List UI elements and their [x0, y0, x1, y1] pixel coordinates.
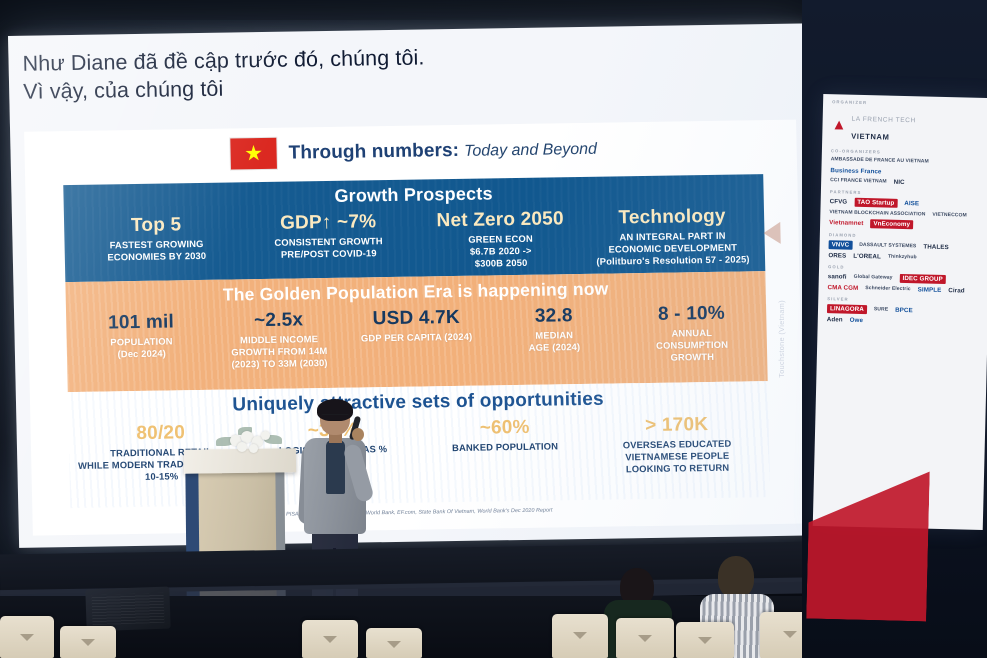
sponsor-logo: DASSAULT SYSTEMES — [859, 242, 916, 249]
sponsor-logo: AISE — [904, 200, 919, 207]
logo-row: VNVC DASSAULT SYSTEMES THALES — [829, 240, 981, 253]
french-tech-logo: ▲ LA FRENCH TECH VIETNAM — [831, 107, 984, 147]
stat-caption: GREEN ECON $6.7B 2020 -> $300B 2050 — [414, 232, 587, 271]
stat-item: ~2.5x MIDDLE INCOME GROWTH FROM 14M (202… — [210, 309, 349, 371]
logo-row: CFVG TAO Startup AISE — [830, 197, 982, 210]
stat-item: 101 mil POPULATION (Dec 2024) — [72, 311, 211, 361]
stat-value: ~2.5x — [210, 309, 348, 333]
audience-chair — [302, 620, 358, 658]
sponsor-logo: Thinkzyhub — [888, 254, 917, 261]
logo-row: LINAGORA SURE BPCE — [827, 304, 979, 317]
stat-caption: POPULATION (Dec 2024) — [73, 335, 211, 361]
tier-label: Silver — [827, 296, 979, 305]
caption-line-1: Như Diane đã đề cập trước đó, chúng tôi. — [22, 45, 424, 75]
stat-line: ECONOMIES BY 2030 — [71, 249, 243, 264]
sponsor-logo: Aden — [827, 316, 843, 323]
stat-item: > 170K OVERSEAS EDUCATED VIETNAMESE PEOP… — [590, 413, 763, 476]
stat-line: GROWTH — [623, 350, 761, 364]
sponsor-logo: Owe — [850, 317, 864, 324]
stat-line: (2023) TO 33M (2030) — [211, 357, 349, 371]
flag-star-icon: ★ — [244, 143, 263, 164]
sponsor-logo: Schneider Electric — [865, 285, 911, 292]
stat-value: 101 mil — [72, 311, 210, 335]
tier-label: Organizer — [832, 99, 984, 108]
sponsor-logo: BPCE — [895, 307, 913, 314]
tier-label: Partners — [830, 189, 982, 198]
stat-value: > 170K — [590, 413, 762, 438]
sponsor-banner: Organizer ▲ LA FRENCH TECH VIETNAM Co-or… — [813, 94, 987, 530]
sponsor-logo: ORES — [828, 252, 846, 259]
glasses-icon — [321, 414, 349, 422]
play-left-arrow-icon[interactable] — [763, 222, 780, 244]
tier-silver: Silver LINAGORA SURE BPCE Aden Owe — [818, 296, 987, 327]
stat-line: GDP PER CAPITA (2024) — [348, 331, 486, 345]
stat-item: USD 4.7K GDP PER CAPITA (2024) — [347, 307, 485, 345]
sponsor-logo: CCI FRANCE VIETNAM — [830, 177, 887, 184]
sponsor-logo: THALES — [923, 243, 949, 251]
speaker-grille — [91, 593, 164, 625]
logo-row: AMBASSADE DE FRANCE AU VIETNAM Business … — [830, 156, 982, 178]
flower-arrangement — [216, 425, 284, 459]
stat-value: GDP↑ ~7% — [242, 211, 414, 236]
stat-line: AGE (2024) — [486, 340, 624, 354]
stat-value: 32.8 — [485, 304, 623, 328]
stat-value: USD 4.7K — [347, 307, 485, 331]
stat-item: GDP↑ ~7% CONSISTENT GROWTH PRE/POST COVI… — [242, 211, 415, 262]
sponsor-logo: TAO Startup — [854, 198, 897, 208]
speaker-hand — [352, 428, 364, 441]
stat-item: 32.8 MEDIAN AGE (2024) — [485, 304, 624, 354]
tier-label: Gold — [828, 264, 980, 273]
band-stat-row: Top 5 FASTEST GROWING ECONOMIES BY 2030 … — [64, 205, 765, 276]
sponsor-logo: CMA CGM — [827, 284, 858, 292]
sponsor-logo: NIC — [894, 179, 905, 186]
stat-line: (Dec 2024) — [73, 347, 211, 361]
conference-hall-scene: Như Diane đã đề cập trước đó, chúng tôi.… — [0, 0, 987, 658]
sponsor-logo: SIMPLE — [918, 286, 942, 294]
band-growth-prospects: Growth Prospects Top 5 FASTEST GROWING E… — [63, 174, 765, 282]
presentation-slide: ★ Through numbers:Today and Beyond Growt… — [24, 120, 805, 536]
venue-vertical-label: Touchstone (Vietnam) — [777, 300, 786, 378]
logo-row: CMA CGM Schneider Electric SIMPLE Cirad — [827, 284, 979, 295]
logo-row: sanofi Global Gateway IDEC GROUP — [828, 272, 980, 285]
stat-item: Top 5 FASTEST GROWING ECONOMIES BY 2030 — [70, 213, 243, 264]
tier-partners: Partners CFVG TAO Startup AISE VIETNAM B… — [820, 189, 987, 231]
logo-row: ORES L'OREAL Thinkzyhub — [828, 252, 980, 263]
stat-item: Net Zero 2050 GREEN ECON $6.7B 2020 -> $… — [414, 208, 587, 271]
logo-row: CCI FRANCE VIETNAM NIC — [830, 177, 982, 188]
page-subtitle: Today and Beyond — [464, 140, 597, 159]
tier-diamond: Diamond VNVC DASSAULT SYSTEMES THALES OR… — [819, 232, 987, 263]
stat-caption: MEDIAN AGE (2024) — [485, 328, 623, 354]
sponsor-logo: Global Gateway — [854, 274, 893, 281]
stat-value: Top 5 — [70, 213, 242, 238]
sponsor-logo: AMBASSADE DE FRANCE AU VIETNAM — [831, 156, 929, 164]
tier-organizer: Organizer ▲ LA FRENCH TECH VIETNAM — [822, 99, 987, 147]
tier-label: Co-organizers — [831, 148, 983, 157]
logo-text: LA FRENCH TECH — [851, 116, 915, 125]
page-title: Through numbers: — [288, 139, 459, 163]
projection-screen: Như Diane đã đề cập trước đó, chúng tôi.… — [8, 23, 819, 547]
audience-chair — [616, 618, 674, 658]
sponsor-logo: Business France — [830, 167, 881, 175]
logo-row: Vietnamnet VnEconomy — [829, 218, 981, 231]
speaker-shirt — [326, 440, 345, 494]
stat-caption: AN INTEGRAL PART IN ECONOMIC DEVELOPMENT… — [586, 229, 759, 268]
audience-chair — [552, 614, 608, 658]
band-stat-row: 101 mil POPULATION (Dec 2024) ~2.5x MIDD… — [66, 302, 767, 373]
stage-monitor-speaker — [85, 587, 170, 632]
audience-chair — [0, 616, 54, 658]
slide-title-row: ★ Through numbers:Today and Beyond — [230, 133, 597, 170]
sponsor-logo: VIETNECCOM — [932, 212, 966, 219]
logo-text: VIETNAM — [851, 132, 890, 142]
audience-chair — [60, 626, 116, 658]
rooster-icon: ▲ — [831, 118, 846, 133]
sponsor-logo: Vietnamnet — [829, 219, 863, 227]
stat-item: Technology AN INTEGRAL PART IN ECONOMIC … — [586, 205, 759, 268]
band-golden-population-era: The Golden Population Era is happening n… — [65, 271, 767, 392]
logo-row: VIETNAM BLOCKCHAIN ASSOCIATION VIETNECCO… — [829, 209, 981, 219]
sponsor-logo: CFVG — [830, 198, 848, 205]
sponsor-logo: LINAGORA — [827, 304, 867, 314]
stat-value: 8 - 10% — [622, 302, 760, 326]
band-stat-row: 80/20 TRADITIONAL RETAIL WHILE MODERN TR… — [68, 413, 769, 484]
stat-value: Technology — [586, 205, 758, 230]
sponsor-logo: IDEC GROUP — [899, 274, 945, 284]
stat-caption: GDP PER CAPITA (2024) — [348, 331, 486, 345]
stat-item: ~60% BANKED POPULATION — [418, 416, 591, 455]
sponsor-logo: Cirad — [948, 287, 964, 294]
audience-chair — [366, 628, 422, 658]
sponsor-logo: VNVC — [829, 240, 853, 250]
sponsor-logo: sanofi — [828, 273, 847, 280]
sponsor-logo: VnEconomy — [870, 219, 913, 229]
stat-item: 8 - 10% ANNUAL CONSUMPTION GROWTH — [622, 302, 761, 364]
source-footnote: 2030 Research, Vietnam Briefing, PISA, V… — [202, 504, 794, 519]
band-unique-opportunities: Uniquely attractive sets of opportunitie… — [68, 381, 770, 508]
stat-caption: BANKED POPULATION — [419, 440, 591, 455]
audience-chair — [676, 622, 734, 658]
stat-value: Net Zero 2050 — [414, 208, 586, 233]
stat-value: ~60% — [418, 416, 590, 441]
stat-caption: MIDDLE INCOME GROWTH FROM 14M (2023) TO … — [210, 333, 348, 371]
tier-co-organizers: Co-organizers AMBASSADE DE FRANCE AU VIE… — [821, 148, 987, 188]
sponsor-logo: L'OREAL — [853, 253, 881, 261]
vietnam-flag-icon: ★ — [230, 138, 277, 170]
tier-gold: Gold sanofi Global Gateway IDEC GROUP CM… — [818, 264, 987, 295]
logo-row: Aden Owe — [827, 316, 979, 327]
subtitle-caption: Như Diane đã đề cập trước đó, chúng tôi.… — [22, 38, 783, 107]
sponsor-logo: SURE — [874, 307, 888, 313]
stat-line: PRE/POST COVID-19 — [243, 247, 415, 262]
stat-caption: FASTEST GROWING ECONOMIES BY 2030 — [70, 237, 243, 264]
tier-label: Diamond — [829, 232, 981, 241]
stat-caption: ANNUAL CONSUMPTION GROWTH — [623, 326, 761, 364]
stat-line: BANKED POPULATION — [419, 440, 591, 455]
sponsor-logo: VIETNAM BLOCKCHAIN ASSOCIATION — [829, 209, 925, 217]
stat-caption: CONSISTENT GROWTH PRE/POST COVID-19 — [242, 235, 415, 262]
stat-caption: OVERSEAS EDUCATED VIETNAMESE PEOPLE LOOK… — [591, 437, 764, 476]
